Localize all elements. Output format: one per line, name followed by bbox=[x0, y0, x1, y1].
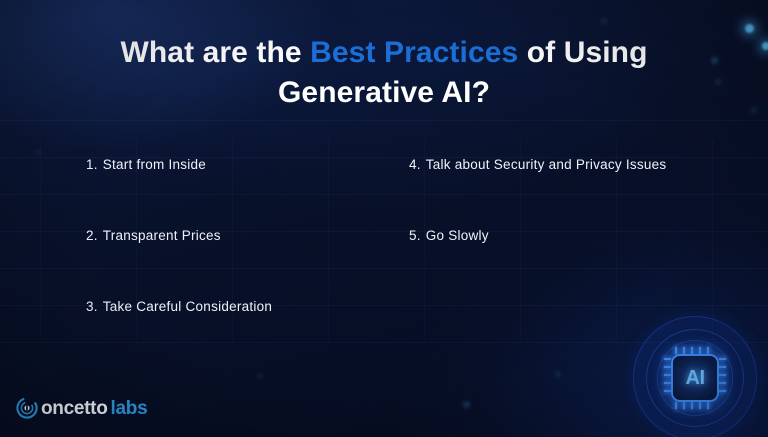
list-item-label: Go Slowly bbox=[426, 228, 489, 243]
list-item-label: Talk about Security and Privacy Issues bbox=[426, 157, 667, 172]
list-item: 2. Transparent Prices bbox=[86, 228, 221, 243]
list-item-label: Start from Inside bbox=[103, 157, 206, 172]
concetto-circle-icon bbox=[16, 397, 38, 419]
title-text-part2: of Using bbox=[518, 36, 647, 69]
ai-chip-icon: AI bbox=[630, 317, 760, 437]
page-title: What are the Best Practices of Using Gen… bbox=[0, 33, 768, 112]
presentation-slide: What are the Best Practices of Using Gen… bbox=[0, 0, 768, 437]
list-item: 1. Start from Inside bbox=[86, 157, 206, 172]
list-item-number: 2. bbox=[86, 228, 98, 243]
list-item: 4. Talk about Security and Privacy Issue… bbox=[409, 157, 666, 172]
logo-word-blue: labs bbox=[111, 399, 148, 418]
chip-label: AI bbox=[686, 368, 705, 388]
list-item-number: 1. bbox=[86, 157, 98, 172]
list-item-number: 3. bbox=[86, 299, 98, 314]
list-item: 5. Go Slowly bbox=[409, 228, 489, 243]
title-accent-text: Best Practices bbox=[310, 36, 518, 69]
brand-logo[interactable]: oncettolabs bbox=[16, 397, 147, 419]
title-line-2: Generative AI? bbox=[0, 73, 768, 113]
logo-word-white: oncetto bbox=[41, 399, 108, 418]
list-item-label: Take Careful Consideration bbox=[103, 299, 272, 314]
title-line-1: What are the Best Practices of Using bbox=[0, 33, 768, 73]
chip-body: AI bbox=[671, 354, 719, 402]
title-text-part1: What are the bbox=[120, 36, 310, 69]
list-item-label: Transparent Prices bbox=[103, 228, 221, 243]
list-item-number: 4. bbox=[409, 157, 421, 172]
list-item-number: 5. bbox=[409, 228, 421, 243]
list-item: 3. Take Careful Consideration bbox=[86, 299, 272, 314]
